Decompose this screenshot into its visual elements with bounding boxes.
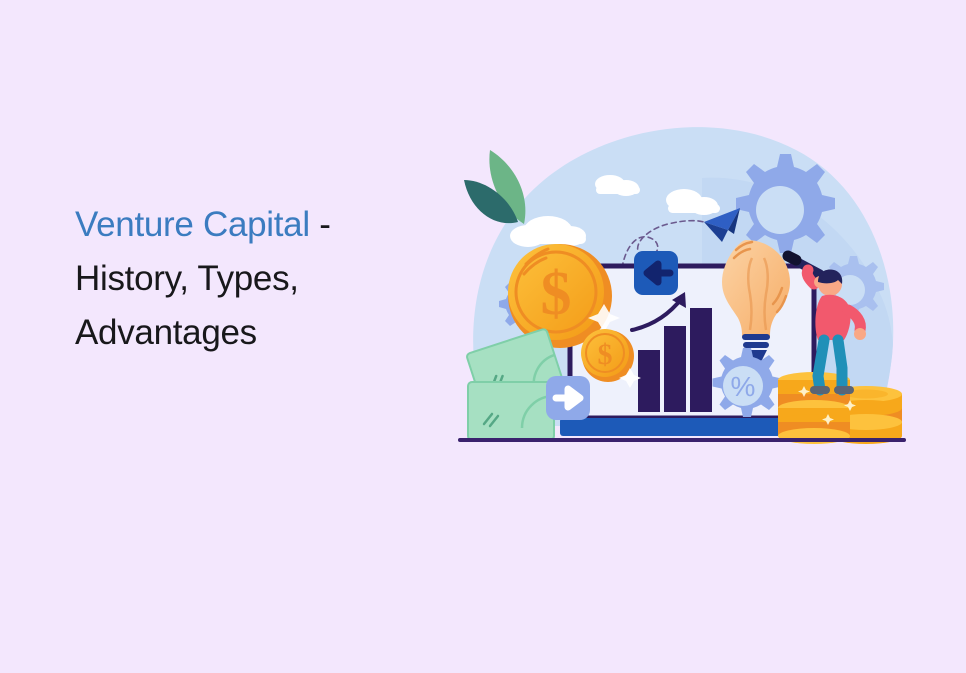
- hero-illustration: $ $: [452, 118, 912, 463]
- leaf-plant: [464, 150, 525, 224]
- title-line-1: Venture Capital -: [75, 198, 435, 252]
- banner-root: Venture Capital - History, Types, Advant…: [0, 0, 966, 673]
- percent-gear: %: [713, 348, 782, 417]
- coin-dollar-symbol: $: [541, 260, 572, 328]
- percent-symbol: %: [731, 371, 756, 402]
- coin-small-dollar-symbol: $: [598, 338, 613, 371]
- gear-large-top-right: [736, 154, 835, 253]
- arrow-right-badge: [546, 376, 590, 420]
- title-accent-text: Venture Capital: [75, 205, 310, 244]
- arrow-left-badge: [634, 251, 678, 295]
- page-title: Venture Capital - History, Types, Advant…: [75, 198, 435, 360]
- title-line-2: History, Types,: [75, 252, 435, 306]
- title-line-3: Advantages: [75, 306, 435, 360]
- title-dash: -: [310, 205, 331, 244]
